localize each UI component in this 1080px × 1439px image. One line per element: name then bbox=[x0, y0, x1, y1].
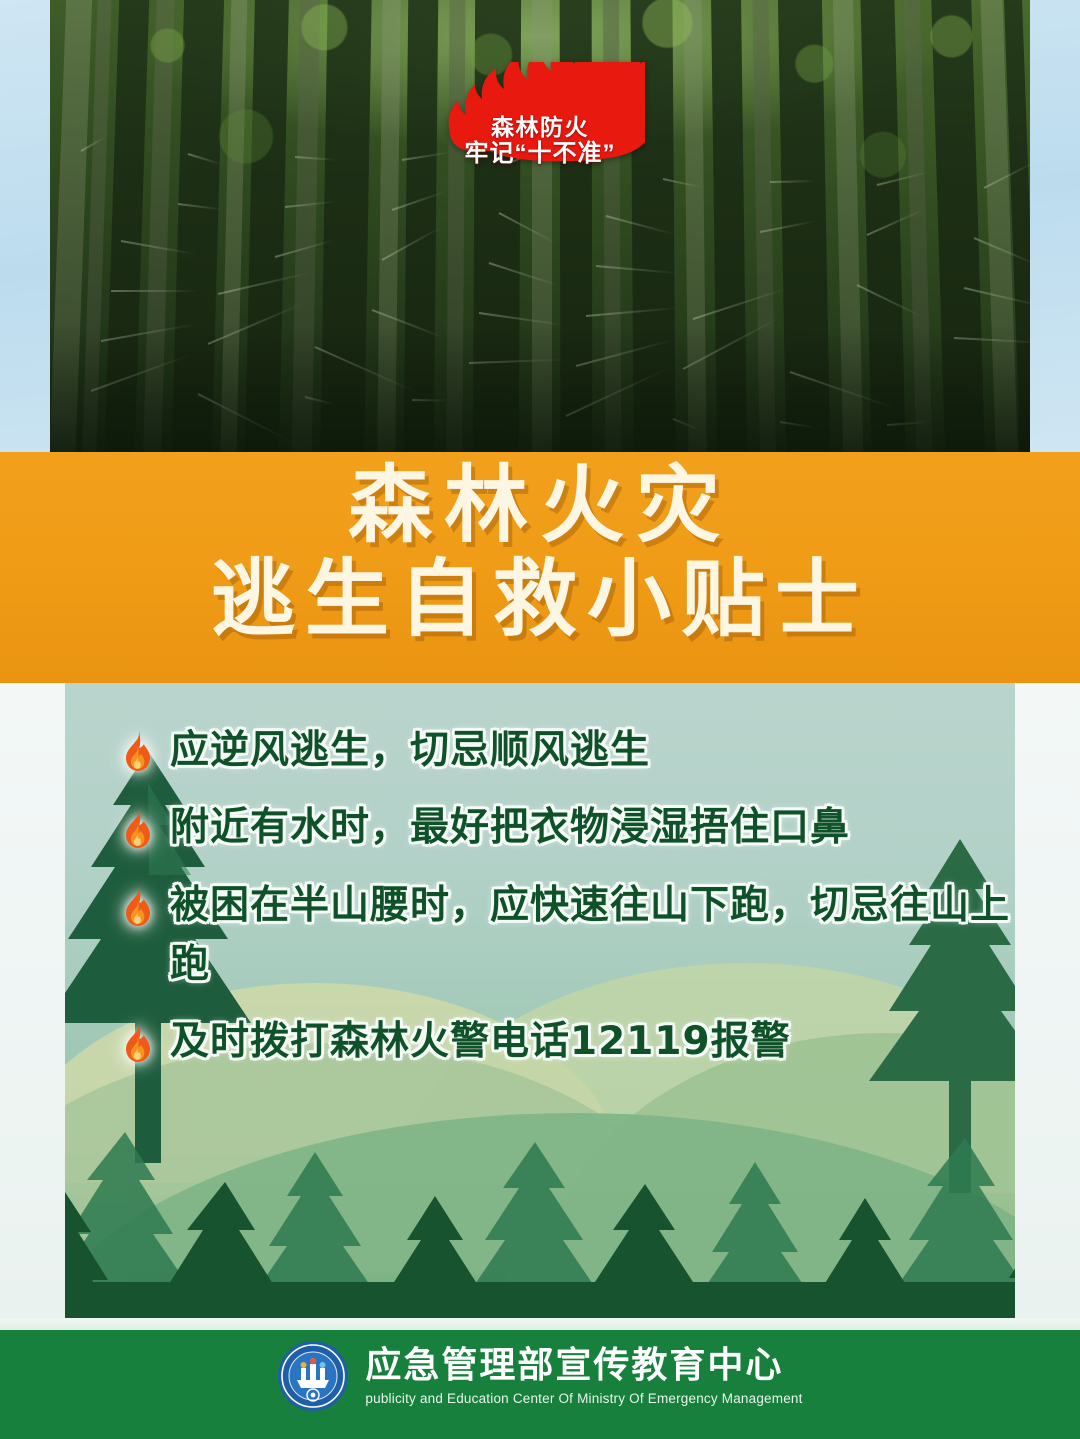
branch bbox=[111, 290, 199, 292]
branch bbox=[285, 201, 337, 208]
right-rail bbox=[1015, 683, 1080, 1326]
branch bbox=[857, 284, 924, 318]
photo-vignette bbox=[50, 325, 1030, 455]
title-band: 森林火灾 逃生自救小贴士 bbox=[0, 452, 1080, 683]
tip-text: 附近有水时，最好把衣物浸湿捂住口鼻 bbox=[170, 798, 850, 857]
tip-text: 应逆风逃生，切忌顺风逃生 bbox=[170, 721, 650, 780]
flame-icon bbox=[120, 729, 154, 771]
badge-text: 森林防火 牢记“十不准” bbox=[435, 114, 645, 168]
footer-org-name-cn: 应急管理部宣传教育中心 bbox=[365, 1346, 802, 1386]
footer-org-name-en: publicity and Education Center Of Minist… bbox=[365, 1391, 802, 1406]
badge-line2: 牢记“十不准” bbox=[435, 140, 645, 167]
branch bbox=[479, 312, 564, 326]
ministry-emblem-icon bbox=[277, 1340, 349, 1412]
flame-icon bbox=[120, 884, 154, 926]
branch bbox=[760, 220, 816, 233]
title-line1: 森林火灾 bbox=[0, 462, 1080, 548]
tips-list: 应逆风逃生，切忌顺风逃生附近有水时，最好把衣物浸湿捂住口鼻被困在半山腰时，应快速… bbox=[120, 721, 1020, 1089]
page-title: 森林火灾 逃生自救小贴士 bbox=[0, 462, 1080, 641]
flame-badge-icon: 森林防火 牢记“十不准” bbox=[435, 62, 645, 190]
branch bbox=[606, 215, 677, 236]
title-line2: 逃生自救小贴士 bbox=[0, 556, 1080, 642]
content-zone: 应逆风逃生，切忌顺风逃生附近有水时，最好把衣物浸湿捂住口鼻被困在半山腰时，应快速… bbox=[0, 683, 1080, 1326]
footer-divider bbox=[0, 1318, 1080, 1330]
branch bbox=[974, 237, 1030, 267]
footer-bar: 应急管理部宣传教育中心 publicity and Education Cent… bbox=[0, 1318, 1080, 1439]
tip-item: 被困在半山腰时，应快速往山下跑，切忌往山上跑 bbox=[120, 876, 1020, 995]
footer-texts: 应急管理部宣传教育中心 publicity and Education Cent… bbox=[365, 1346, 802, 1406]
branch bbox=[596, 265, 679, 274]
branch bbox=[693, 287, 789, 320]
tip-text: 及时拨打森林火警电话12119报警 bbox=[170, 1012, 791, 1071]
flame-icon bbox=[120, 806, 154, 848]
branch bbox=[275, 239, 335, 258]
flame-icon bbox=[120, 1020, 154, 1062]
left-rail bbox=[0, 683, 65, 1326]
forest-silhouette-band bbox=[65, 1072, 1015, 1326]
branch bbox=[382, 226, 443, 261]
tip-item: 及时拨打森林火警电话12119报警 bbox=[120, 1012, 1020, 1071]
branch bbox=[586, 307, 679, 317]
branch bbox=[178, 203, 223, 210]
branch bbox=[218, 272, 311, 295]
branch bbox=[121, 240, 198, 256]
branch bbox=[867, 208, 926, 236]
branch bbox=[964, 287, 1030, 307]
branch bbox=[770, 180, 817, 183]
branch bbox=[81, 136, 106, 152]
footer-content: 应急管理部宣传教育中心 publicity and Education Cent… bbox=[0, 1340, 1080, 1412]
branch bbox=[188, 153, 222, 165]
tip-item: 应逆风逃生，切忌顺风逃生 bbox=[120, 721, 1020, 780]
badge-line1: 森林防火 bbox=[435, 114, 645, 140]
branch bbox=[295, 156, 337, 161]
branch bbox=[663, 178, 703, 188]
branch bbox=[489, 262, 562, 287]
tip-item: 附近有水时，最好把衣物浸湿捂住口鼻 bbox=[120, 798, 1020, 857]
branch bbox=[392, 190, 448, 211]
branch bbox=[499, 212, 558, 245]
tip-text: 被困在半山腰时，应快速往山下跑，切忌往山上跑 bbox=[170, 876, 1020, 995]
poster-root: 森林防火 牢记“十不准” 森林火灾 逃生自救小贴士 bbox=[0, 0, 1080, 1439]
branch bbox=[877, 171, 930, 186]
branch bbox=[984, 159, 1030, 188]
